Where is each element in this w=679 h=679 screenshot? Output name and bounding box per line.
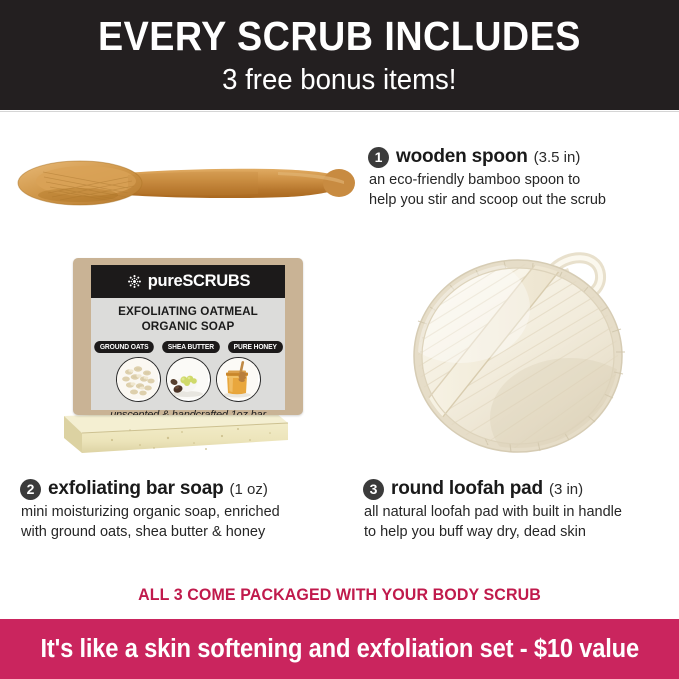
header-title: EVERY SCRUB INCLUDES bbox=[98, 16, 581, 57]
soap-title-line-1: EXFOLIATING OATMEAL bbox=[91, 305, 285, 320]
item-3-quantity: (3 in) bbox=[549, 481, 583, 498]
soap-product-title: EXFOLIATING OATMEAL ORGANIC SOAP bbox=[91, 305, 285, 335]
ingredient-pill-shea-butter: SHEA BUTTER bbox=[162, 341, 219, 353]
ingredient-pill-ground-oats: GROUND OATS bbox=[94, 341, 154, 353]
item-3-desc-line-1: all natural loofah pad with built in han… bbox=[364, 503, 622, 523]
item-3-heading: 3 round loofah pad (3 in) bbox=[363, 478, 622, 500]
item-2-name: exfoliating bar soap bbox=[48, 478, 223, 500]
item-1-number-badge: 1 bbox=[368, 147, 389, 168]
item-1-description: an eco-friendly bamboo spoon to help you… bbox=[369, 171, 606, 210]
header-banner: EVERY SCRUB INCLUDES 3 free bonus items! bbox=[0, 0, 679, 110]
soap-brand-bar: pureSCRUBS bbox=[91, 265, 285, 298]
bamboo-spoon-image bbox=[8, 150, 358, 220]
item-2-description: mini moisturizing organic soap, enriched… bbox=[21, 503, 280, 542]
item-1-name: wooden spoon bbox=[396, 146, 528, 168]
packaging-note: ALL 3 COME PACKAGED WITH YOUR BODY SCRUB bbox=[10, 586, 669, 605]
honey-jar-icon bbox=[216, 357, 261, 402]
mandala-starburst-icon bbox=[126, 273, 143, 290]
soap-bar-package-image: pureSCRUBS EXFOLIATING OATMEAL ORGANIC S… bbox=[42, 240, 332, 460]
item-3-name: round loofah pad bbox=[391, 478, 543, 500]
soap-label: pureSCRUBS EXFOLIATING OATMEAL ORGANIC S… bbox=[91, 265, 285, 410]
item-3-desc-line-2: to help you buff way dry, dead skin bbox=[364, 523, 622, 543]
item-3-number-badge: 3 bbox=[363, 479, 384, 500]
item-3-block: 3 round loofah pad (3 in) all natural lo… bbox=[363, 478, 622, 542]
value-banner: It's like a skin softening and exfoliati… bbox=[0, 619, 679, 679]
item-2-heading: 2 exfoliating bar soap (1 oz) bbox=[20, 478, 280, 500]
item-2-block: 2 exfoliating bar soap (1 oz) mini moist… bbox=[20, 478, 280, 542]
ingredient-pill-pure-honey: PURE HONEY bbox=[228, 341, 282, 353]
value-banner-text: It's like a skin softening and exfoliati… bbox=[40, 635, 638, 664]
oats-bowl-icon bbox=[116, 357, 161, 402]
item-1-heading: 1 wooden spoon (3.5 in) bbox=[368, 146, 606, 168]
header-subtitle: 3 free bonus items! bbox=[222, 66, 456, 95]
item-2-desc-line-1: mini moisturizing organic soap, enriched bbox=[21, 503, 280, 523]
item-3-description: all natural loofah pad with built in han… bbox=[364, 503, 622, 542]
soap-kraft-box: pureSCRUBS EXFOLIATING OATMEAL ORGANIC S… bbox=[73, 258, 303, 415]
item-2-number-badge: 2 bbox=[20, 479, 41, 500]
item-1-quantity: (3.5 in) bbox=[534, 149, 581, 166]
round-loofah-pad-image bbox=[400, 228, 650, 463]
soap-brand-name: pureSCRUBS bbox=[148, 273, 250, 290]
item-2-quantity: (1 oz) bbox=[229, 481, 267, 498]
ingredient-pill-row: GROUND OATS SHEA BUTTER PURE HONEY bbox=[91, 341, 285, 353]
item-2-desc-line-2: with ground oats, shea butter & honey bbox=[21, 523, 280, 543]
soap-title-line-2: ORGANIC SOAP bbox=[91, 320, 285, 335]
header-divider bbox=[0, 111, 679, 112]
item-1-desc-line-1: an eco-friendly bamboo spoon to bbox=[369, 171, 606, 191]
ingredient-image-row bbox=[91, 357, 285, 402]
item-1-block: 1 wooden spoon (3.5 in) an eco-friendly … bbox=[368, 146, 606, 210]
item-1-desc-line-2: help you stir and scoop out the scrub bbox=[369, 191, 606, 211]
soap-footer-text: unscented & handcrafted 1oz bar bbox=[91, 409, 285, 415]
shea-butter-bowl-icon bbox=[166, 357, 211, 402]
